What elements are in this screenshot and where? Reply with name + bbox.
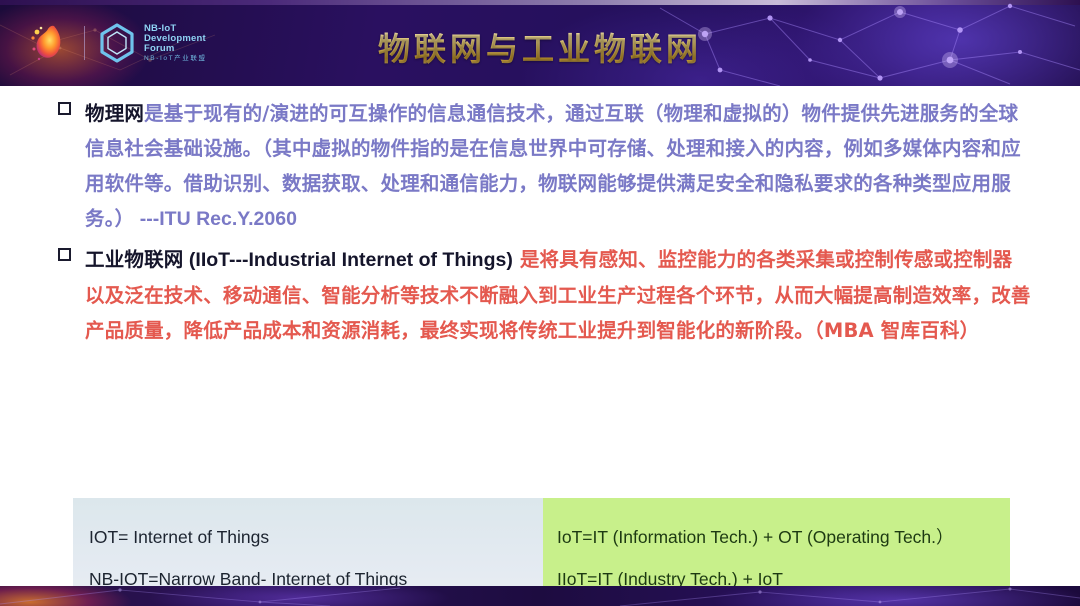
footer-network-decoration	[0, 586, 1080, 606]
bullet2-term: 工业物联网	[85, 248, 184, 271]
bullet2-term-english: (IIoT---Industrial Internet of Things)	[184, 249, 513, 271]
bullet-text-iiot: 工业物联网 (IIoT---Industrial Internet of Thi…	[85, 242, 1032, 348]
square-bullet-icon	[58, 102, 71, 115]
formula-line-iot: IoT=IT (Information Tech.) + OT (Operati…	[557, 516, 1010, 558]
page-title: 物联网与工业物联网	[0, 24, 1080, 70]
square-bullet-icon	[58, 248, 71, 261]
bullet1-term: 物理网	[85, 102, 144, 125]
slide-body: 物理网是基于现有的/演进的可互操作的信息通信技术，通过互联（物理和虚拟的）物件提…	[0, 86, 1080, 558]
bullet-item-iiot: 工业物联网 (IIoT---Industrial Internet of Thi…	[52, 242, 1032, 348]
definition-line-iot: IOT= Internet of Things	[89, 516, 543, 558]
bullet-text-iot: 物理网是基于现有的/演进的可互操作的信息通信技术，通过互联（物理和虚拟的）物件提…	[85, 96, 1032, 237]
bullet-item-iot: 物理网是基于现有的/演进的可互操作的信息通信技术，通过互联（物理和虚拟的）物件提…	[52, 96, 1032, 237]
slide-footer-banner	[0, 586, 1080, 606]
slide-header-banner: NB-IoT Development Forum NB-IoT产业联盟 物联网与…	[0, 0, 1080, 86]
slide-canvas: NB-IoT Development Forum NB-IoT产业联盟 物联网与…	[0, 0, 1080, 606]
bullet1-source: ---ITU Rec.Y.2060	[134, 208, 297, 230]
